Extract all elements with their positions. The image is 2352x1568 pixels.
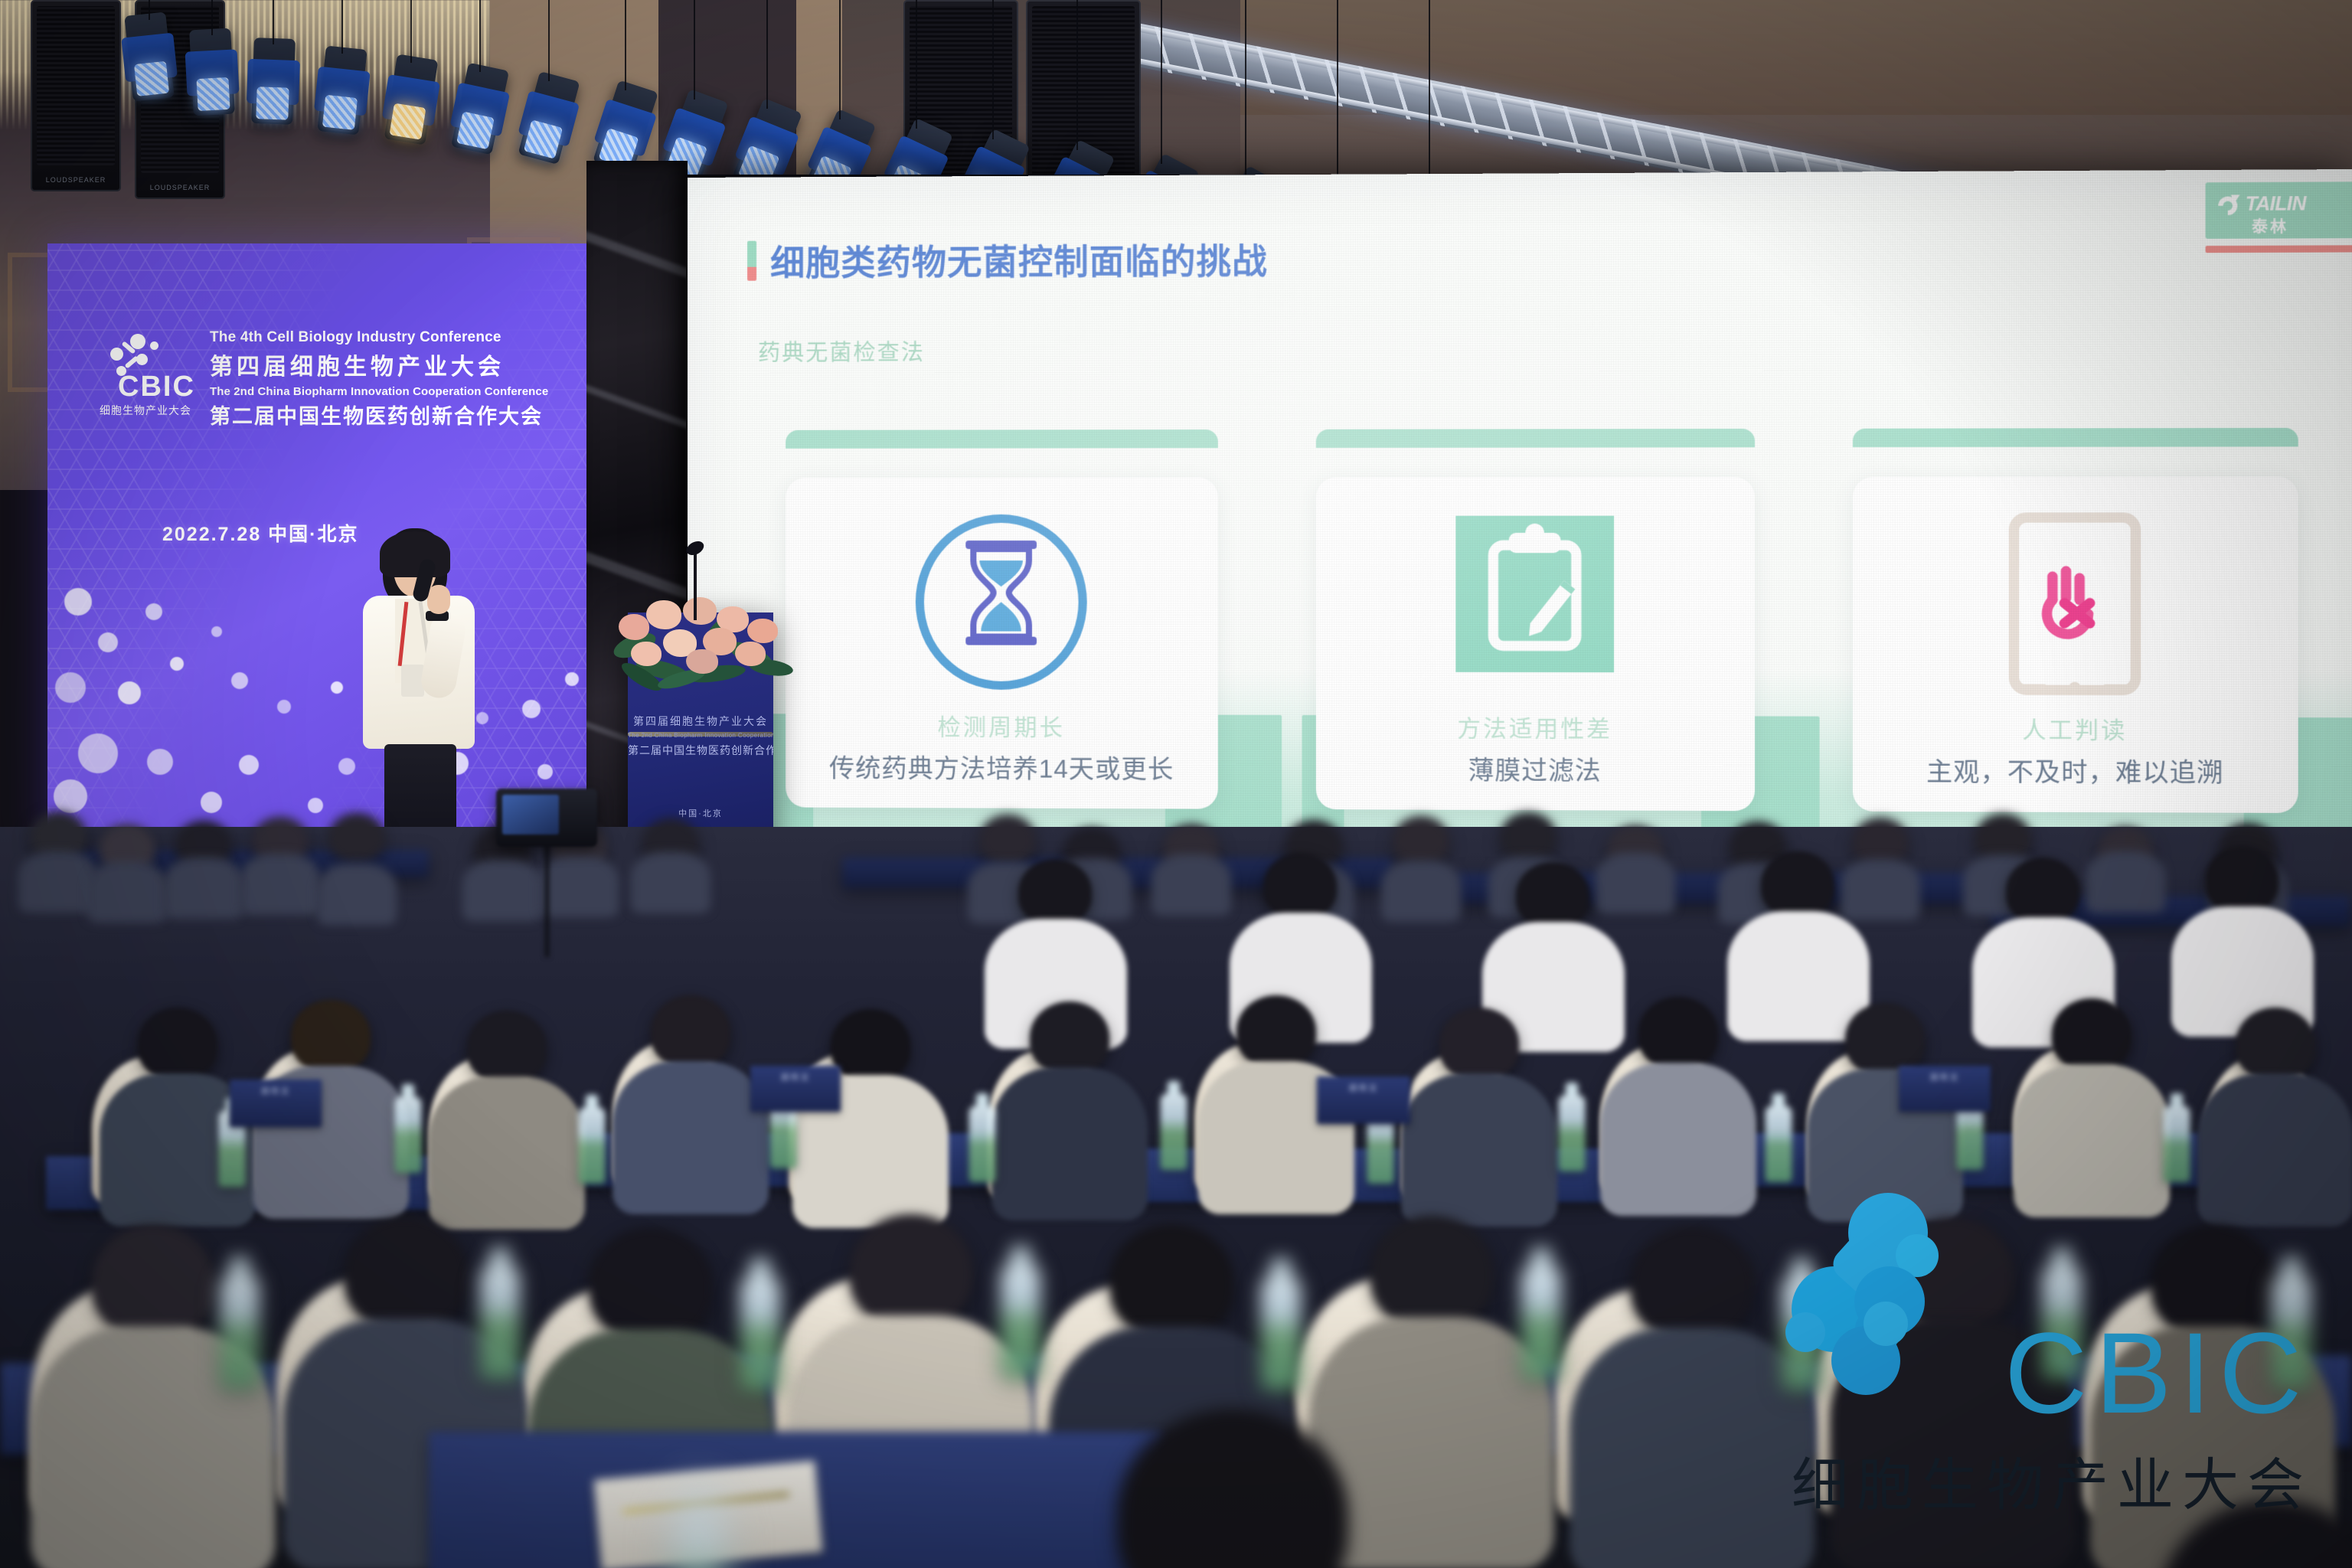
conference-photo: LOUDSPEAKER LOUDSPEAKER LOUDSPEAKER LOUD… (0, 0, 2352, 1568)
backdrop-date-line: 2022.7.28 中国·北京 (162, 519, 359, 547)
camera-monopod (545, 842, 549, 957)
challenge-card: 检测周期长 传统药典方法培养14天或更长 (786, 477, 1218, 808)
cbic-watermark: CBIC 细胞生物产业大会 (1775, 1187, 2311, 1547)
audience-head (2006, 857, 2079, 923)
tailin-arrow-icon (2215, 193, 2242, 217)
slide-subtitle: 药典无菌检查法 (758, 335, 925, 367)
tablet-hand-stop-icon (1984, 512, 2167, 679)
podium-flower-arrangement (612, 596, 790, 710)
water-bottle (220, 1276, 260, 1389)
audience-body (1841, 859, 1920, 920)
audience-body (317, 864, 397, 925)
audience-head (850, 1214, 972, 1326)
audience-head (467, 1011, 547, 1083)
audience-head (1631, 1227, 1753, 1338)
audience-body (87, 861, 167, 923)
water-bottle (1001, 1265, 1040, 1378)
water-bottle (969, 1106, 995, 1182)
card-description: 主观，不及时，难以追溯 (1853, 750, 2298, 789)
water-bottle (2163, 1106, 2190, 1182)
water-bottle (578, 1107, 605, 1184)
audience-head (1110, 1225, 1233, 1337)
audience-head (2052, 998, 2131, 1070)
lamp-cable (1337, 0, 1338, 190)
clipboard-pen-icon (1445, 513, 1625, 679)
stage-backdrop: CBIC 细胞生物产业大会 The 4th Cell Biology Indus… (47, 243, 588, 848)
cbic-watermark-text: CBIC (2004, 1315, 2309, 1430)
audience-head (92, 1225, 214, 1337)
audience-head (651, 995, 730, 1067)
audience-body (631, 852, 710, 913)
cbic-watermark-cn: 细胞生物产业大会 (1792, 1439, 2312, 1521)
audience-head (1263, 853, 1337, 919)
audience-body (164, 857, 243, 919)
backdrop-cn-line-2: 第二届中国生物医药创新合作大会 (210, 400, 570, 430)
audience-head (1018, 859, 1092, 925)
audience-body (462, 860, 542, 921)
lamp-cable (766, 0, 768, 109)
podium-en-line: The 2nd China Biopharm Innovation Cooper… (628, 732, 773, 737)
podium-cn-line-1: 第四届细胞生物产业大会 (628, 714, 773, 729)
name-card-text: 郑传文 (230, 1085, 322, 1097)
audience-body (1727, 911, 1870, 1041)
audience-head (1393, 816, 1449, 864)
audience-head (1370, 1216, 1493, 1328)
lamp-cable (625, 0, 626, 90)
lamp-cable (694, 0, 695, 100)
table-name-card: 郑传文 (750, 1066, 841, 1112)
audience-body (1600, 1063, 1756, 1216)
moving-head-lamp (189, 28, 235, 116)
audience-head (1853, 818, 1908, 865)
audience-head (1030, 1001, 1109, 1073)
water-bottle (1521, 1266, 1561, 1380)
card-description: 薄膜过滤法 (1316, 749, 1755, 787)
audience-head (1761, 851, 1834, 917)
name-card-text: 郑传文 (1899, 1071, 1991, 1083)
lamp-cable (916, 0, 917, 129)
lamp-cable (410, 0, 412, 63)
backdrop-en-line-2: The 2nd China Biopharm Innovation Cooper… (210, 385, 570, 398)
audience-body (539, 856, 619, 917)
water-bottle (394, 1096, 421, 1173)
audience-head (1516, 862, 1589, 928)
podium-cn-line-2: 第二届中国生物医药创新合作大会 (628, 743, 773, 758)
water-bottle (1558, 1095, 1585, 1171)
card-top-tab (786, 430, 1218, 449)
audience-body (240, 854, 320, 915)
audience-body (991, 1067, 1148, 1220)
lamp-cable (211, 0, 213, 35)
name-card-text: 郑传文 (750, 1071, 841, 1083)
audience-head (2205, 847, 2278, 913)
audience-head (831, 1009, 910, 1081)
line-array-speaker: LOUDSPEAKER (31, 0, 121, 191)
audience-body (612, 1061, 769, 1214)
card-top-tab (1853, 428, 2298, 447)
audience-body (2086, 851, 2165, 913)
table-name-card: 郑传文 (1317, 1076, 1410, 1124)
audience-body (1401, 1073, 1557, 1227)
water-bottle (1765, 1106, 1792, 1182)
backdrop-cn-line-1: 第四届细胞生物产业大会 (210, 348, 570, 381)
card-top-tab (1316, 429, 1755, 448)
audience-head (345, 1217, 467, 1329)
table-name-card: 郑传文 (1899, 1066, 1991, 1112)
table-name-card: 郑传文 (230, 1080, 322, 1127)
water-bottle (673, 1510, 725, 1568)
card-title: 方法适用性差 (1316, 709, 1755, 744)
lamp-cable (992, 0, 994, 139)
audience-head (329, 813, 384, 861)
water-bottle (740, 1277, 780, 1390)
audience-head (1501, 812, 1556, 860)
slide-card-row: 检测周期长 传统药典方法培养14天或更长 (786, 428, 2298, 835)
lamp-cable (1245, 0, 1246, 176)
audience-body (1151, 854, 1231, 916)
audience-head (1845, 1003, 1925, 1075)
speaker-label: LOUDSPEAKER (31, 176, 121, 184)
backdrop-cbic-logo: CBIC 细胞生物产业大会 (95, 332, 202, 416)
challenge-card: 人工判读 主观，不及时，难以追溯 (1853, 476, 2298, 813)
title-accent-bar (747, 240, 756, 280)
backdrop-logo-cn: 细胞生物产业大会 (100, 403, 191, 418)
water-bottle (480, 1266, 520, 1380)
backdrop-title-block: The 4th Cell Biology Industry Conference… (210, 329, 570, 430)
presenter (346, 528, 492, 857)
slide-title-block: 细胞类药物无菌控制面临的挑战 (747, 234, 1268, 286)
audience-head (138, 1008, 217, 1080)
challenge-card: 方法适用性差 薄膜过滤法 (1316, 477, 1755, 811)
projection-screen: TAILIN 泰林 细胞类药物无菌控制面临的挑战 药典无菌检查法 (688, 169, 2352, 906)
card-description: 传统药典方法培养14天或更长 (786, 747, 1218, 786)
tailin-en-text: TAILIN (2246, 193, 2306, 216)
lamp-cable (1076, 0, 1078, 150)
backdrop-logo-text: CBIC (118, 372, 195, 401)
tailin-logo: TAILIN 泰林 (2206, 181, 2352, 253)
slide-title: 细胞类药物无菌控制面临的挑战 (770, 234, 1268, 286)
audience-body (429, 1076, 585, 1230)
audience-head (1975, 814, 2030, 861)
podium-city: 中国·北京 (628, 807, 773, 819)
water-bottle (1160, 1093, 1187, 1170)
audience-head (980, 815, 1035, 862)
lamp-cable (548, 0, 550, 81)
lamp-cable (341, 0, 343, 54)
lamp-cable (1429, 0, 1430, 204)
lamp-cable (149, 0, 150, 20)
podium-mic-stand (694, 550, 697, 620)
tailin-rule (2206, 245, 2352, 253)
moving-head-lamp (251, 38, 296, 125)
audience-head (1638, 997, 1718, 1069)
hourglass-icon (913, 513, 1090, 678)
card-title: 人工判读 (1853, 710, 2298, 746)
moving-head-lamp (124, 11, 174, 101)
audience-head (291, 1000, 371, 1072)
audience-head (590, 1228, 712, 1340)
card-title: 检测周期长 (786, 707, 1218, 743)
backdrop-en-line-1: The 4th Cell Biology Industry Conference (210, 329, 570, 346)
water-bottle (1261, 1277, 1301, 1390)
lamp-cable (839, 0, 841, 119)
audience-body (1596, 853, 1675, 914)
speaker-label: LOUDSPEAKER (135, 184, 225, 191)
name-card-text: 郑传文 (1317, 1082, 1410, 1094)
audience-head (2236, 1008, 2315, 1080)
audience-body (18, 851, 98, 913)
audience-head (1236, 995, 1316, 1067)
audience-body (1381, 861, 1461, 922)
lamp-cable (273, 0, 274, 44)
cbic-molecule-icon (1775, 1187, 2027, 1439)
tailin-cn-text: 泰林 (2252, 214, 2288, 237)
lamp-cable (479, 0, 481, 72)
video-camera (496, 789, 597, 847)
lamp-cable (1161, 0, 1162, 164)
audience-head (1439, 1008, 1519, 1080)
